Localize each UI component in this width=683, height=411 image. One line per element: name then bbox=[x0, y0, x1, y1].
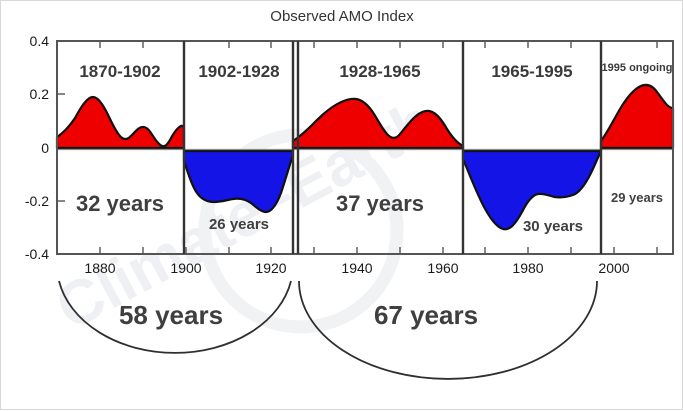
y-tick-label: -0.2 bbox=[25, 193, 49, 209]
cycle-label-67-years: 67 years bbox=[374, 300, 478, 330]
x-tick-label: 1980 bbox=[512, 260, 543, 276]
y-tick-label: -0.4 bbox=[25, 246, 49, 262]
x-tick-label: 1960 bbox=[427, 260, 458, 276]
y-tick-label: 0 bbox=[41, 140, 49, 156]
duration-label-29-years: 29 years bbox=[611, 190, 663, 205]
phase-label-1870-1902: 1870-1902 bbox=[79, 62, 160, 81]
duration-label-26-years: 26 years bbox=[209, 216, 269, 233]
positive-anomaly-areas bbox=[57, 85, 673, 148]
x-tick-label: 1880 bbox=[84, 260, 115, 276]
y-tick-label: 0.4 bbox=[30, 33, 50, 49]
x-tick-label: 2000 bbox=[598, 260, 629, 276]
x-tick-label: 1920 bbox=[255, 260, 286, 276]
y-tick-label: 0.2 bbox=[30, 86, 50, 102]
x-tick-label: 1940 bbox=[341, 260, 372, 276]
cycle-label-58-years: 58 years bbox=[119, 300, 223, 330]
phase-label-1965-1995: 1965-1995 bbox=[491, 62, 572, 81]
page-title: Observed AMO Index bbox=[270, 8, 414, 25]
x-tick-label: 1900 bbox=[170, 260, 201, 276]
phase-period-labels: 1870-1902 1902-1928 1928-1965 1965-1995 … bbox=[79, 62, 672, 81]
y-axis-labels: 0.4 0.2 0 -0.2 -0.4 bbox=[25, 33, 49, 262]
phase-label-1995-ongoing: 1995 ongoing bbox=[602, 62, 673, 74]
duration-label-30-years: 30 years bbox=[523, 218, 583, 235]
chart-canvas: Climate–Earth Observed AMO Index 0.4 0.2… bbox=[1, 1, 683, 411]
warm-phase-area-1870-1902 bbox=[57, 97, 184, 148]
duration-label-37-years: 37 years bbox=[336, 191, 424, 216]
phase-label-1902-1928: 1902-1928 bbox=[198, 62, 279, 81]
amo-index-figure: Climate–Earth Observed AMO Index 0.4 0.2… bbox=[0, 0, 683, 410]
warm-phase-area-1995-ongoing bbox=[601, 85, 673, 148]
duration-label-32-years: 32 years bbox=[76, 191, 164, 216]
phase-label-1928-1965: 1928-1965 bbox=[339, 62, 420, 81]
